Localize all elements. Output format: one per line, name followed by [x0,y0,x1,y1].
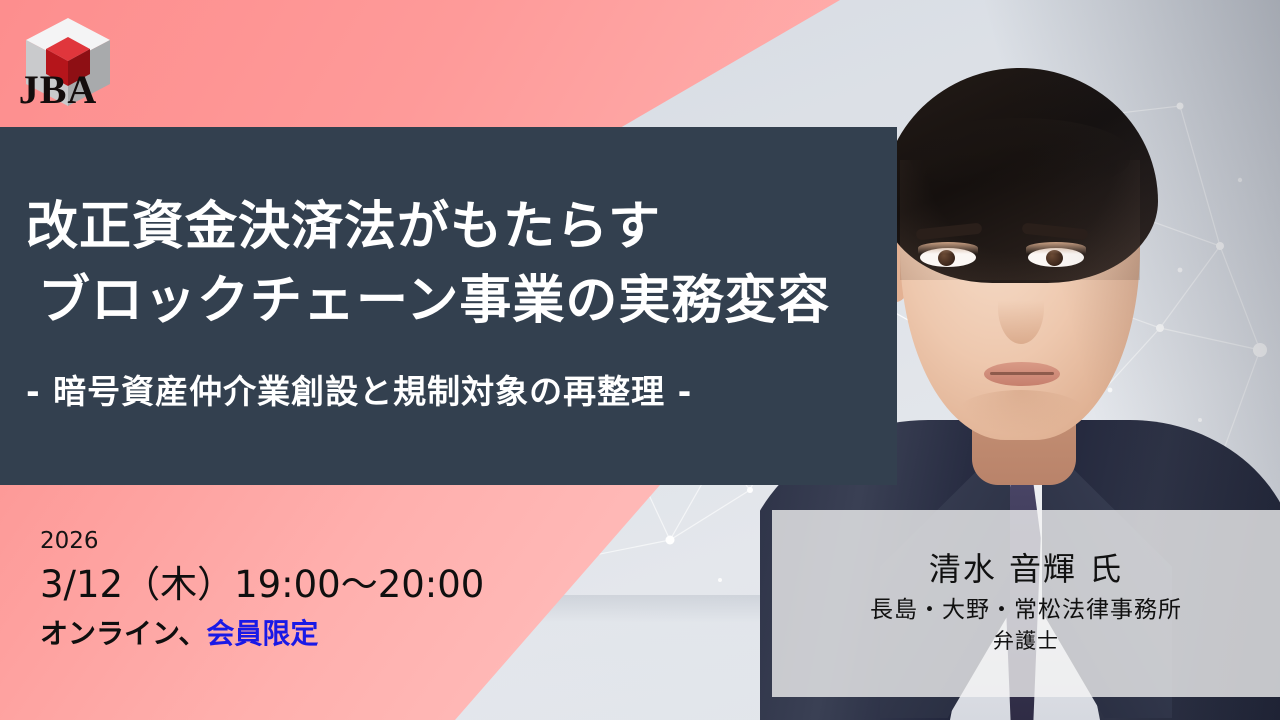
seminar-poster: JBA 改正資金決済法がもたらす ブロックチェーン事業の実務変容 - 暗号資産仲… [0,0,1280,720]
title-line-1: 改正資金決済法がもたらす [26,190,886,264]
event-datetime: 3/12（木）19:00〜20:00 [40,560,484,610]
title-block: 改正資金決済法がもたらす ブロックチェーン事業の実務変容 [26,190,886,338]
event-format: オンライン、会員限定 [40,616,484,652]
speaker-name: 清水 音輝 氏 [929,549,1123,589]
event-format-prefix: オンライン、 [40,617,206,650]
title-line-2: ブロックチェーン事業の実務変容 [26,264,886,338]
event-year: 2026 [40,528,484,556]
event-audience-badge: 会員限定 [206,617,318,650]
speaker-firm: 長島・大野・常松法律事務所 [870,595,1182,626]
speaker-card: 清水 音輝 氏 長島・大野・常松法律事務所 弁護士 [772,510,1280,697]
event-details: 2026 3/12（木）19:00〜20:00 オンライン、会員限定 [40,528,484,652]
speaker-role: 弁護士 [993,626,1059,658]
subtitle: - 暗号資産仲介業創設と規制対象の再整理 - [26,365,692,413]
jba-wordmark: JBA [8,70,108,110]
